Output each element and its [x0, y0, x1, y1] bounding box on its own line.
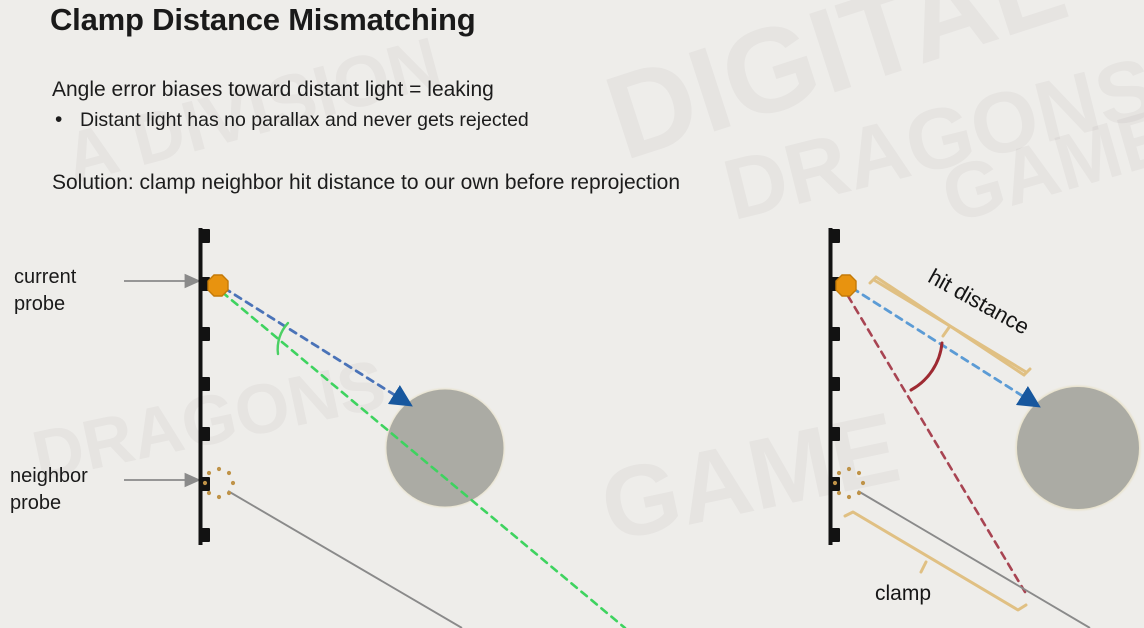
- label-clamp: clamp: [875, 582, 931, 606]
- ray-red-dashed-right: [848, 296, 1025, 592]
- diagram-artwork: [0, 0, 1144, 628]
- angle-error-arc-left: [278, 323, 288, 354]
- left-diagram-group: [124, 228, 625, 628]
- label-neighbor-probe: neighbor probe: [10, 463, 88, 517]
- clamp-bracket-tick: [921, 562, 926, 572]
- ray-gray-neighbor-right: [858, 491, 1090, 628]
- right-diagram-group: [831, 228, 1143, 628]
- ray-blue-dashed-left: [224, 288, 401, 399]
- current-probe-octagon-left: [208, 275, 228, 296]
- ray-green-dashed-left: [222, 292, 625, 628]
- occluder-sphere-right-body: [1017, 387, 1139, 509]
- label-current-probe: current probe: [14, 264, 76, 318]
- current-probe-octagon-right: [836, 275, 856, 296]
- ray-gray-neighbor-left: [228, 491, 462, 628]
- slide-canvas: DIGITAL DRAGONS GAME A DIVISION GAME DRA…: [0, 0, 1144, 628]
- occluder-sphere-left-body: [387, 390, 504, 507]
- clamp-bracket: [845, 512, 1026, 610]
- angle-arc-right: [911, 343, 942, 390]
